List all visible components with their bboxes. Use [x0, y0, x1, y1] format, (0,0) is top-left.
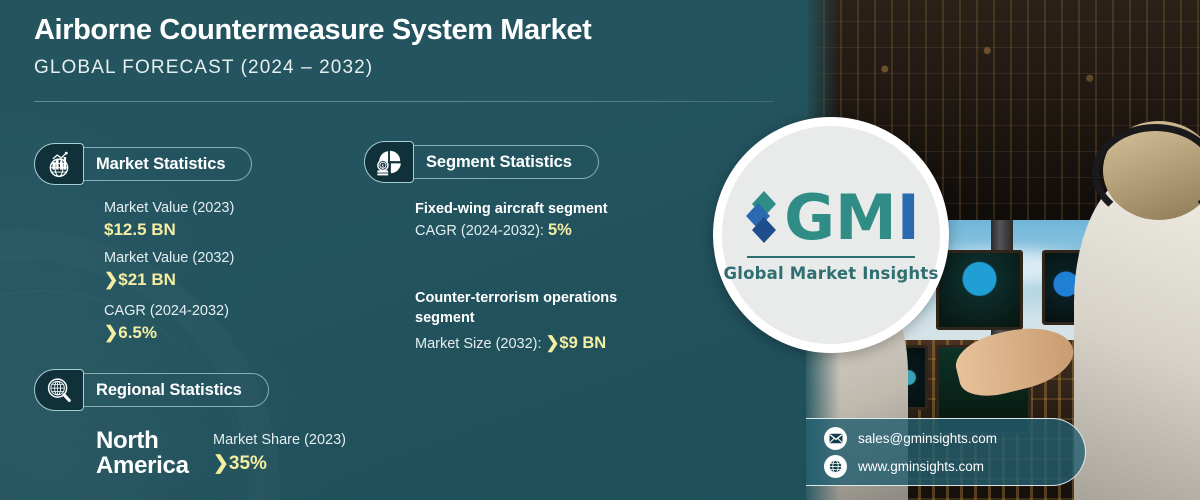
envelope-icon — [824, 427, 847, 450]
market-cagr-value: ❯6.5% — [104, 322, 234, 345]
pilot-right — [1074, 170, 1200, 500]
segment-1-metric-value: 5% — [548, 221, 572, 239]
svg-text:$: $ — [381, 164, 384, 170]
contact-box: sales@gminsights.com www.gminsights.com — [806, 418, 1086, 486]
segment-1-title: Fixed-wing aircraft segment — [415, 199, 608, 219]
market-statistics-values: Market Value (2023) $12.5 BN Market Valu… — [104, 198, 234, 345]
left-content-panel: Airborne Countermeasure System Market GL… — [0, 0, 806, 500]
segment-statistics-header: $ Segment Statistics — [364, 141, 599, 183]
logo-letter-g: G — [784, 187, 833, 249]
globe-magnifier-icon — [34, 369, 84, 411]
logo-letter-i: I — [897, 187, 918, 249]
segment-statistics-label: Segment Statistics — [410, 145, 599, 179]
segment-1-metric-label: CAGR (2024-2032): — [415, 223, 548, 239]
pilot-headset — [1092, 124, 1200, 223]
market-statistics-header: Market Statistics — [34, 143, 252, 185]
page-title: Airborne Countermeasure System Market — [34, 14, 774, 47]
segment-2-metric: Market Size (2032): ❯$9 BN — [415, 333, 665, 353]
market-value-2032-label: Market Value (2032) — [104, 248, 234, 269]
diamond-stack-icon — [744, 189, 778, 247]
navigation-display — [936, 250, 1023, 330]
segment-2-title: Counter-terrorism operations segment — [415, 288, 665, 329]
contact-website-text: www.gminsights.com — [858, 459, 984, 474]
region-line-1: North — [96, 428, 189, 453]
regional-region-name: North America — [96, 428, 189, 478]
market-value-2023-value: $12.5 BN — [104, 219, 234, 242]
market-cagr-label: CAGR (2024-2032) — [104, 301, 234, 322]
regional-statistics-header: Regional Statistics — [34, 369, 269, 411]
contact-website-row[interactable]: www.gminsights.com — [824, 455, 1085, 478]
market-share-label: Market Share (2023) — [213, 430, 346, 451]
regional-statistics-label: Regional Statistics — [80, 373, 269, 407]
globe-icon — [824, 455, 847, 478]
market-share-value: ❯35% — [213, 451, 346, 477]
segment-1-metric: CAGR (2024-2032): 5% — [415, 221, 608, 240]
segment-item-2: Counter-terrorism operations segment Mar… — [415, 288, 665, 353]
region-line-2: America — [96, 453, 189, 478]
regional-share: Market Share (2023) ❯35% — [213, 430, 346, 477]
contact-email-row[interactable]: sales@gminsights.com — [824, 427, 1085, 450]
globe-bar-chart-icon — [34, 143, 84, 185]
market-report-banner: Airborne Countermeasure System Market GL… — [0, 0, 1200, 500]
logo-divider — [747, 256, 915, 258]
gmi-logo: G M I Global Market Insights — [713, 117, 949, 353]
market-statistics-label: Market Statistics — [80, 147, 252, 181]
segment-2-metric-label: Market Size (2032): — [415, 336, 546, 352]
logo-tagline: Global Market Insights — [724, 264, 939, 283]
market-value-2023-label: Market Value (2023) — [104, 198, 234, 219]
market-value-2032-value: ❯$21 BN — [104, 269, 234, 292]
page-subtitle: GLOBAL FORECAST (2024 – 2032) — [34, 57, 774, 79]
segment-item-1: Fixed-wing aircraft segment CAGR (2024-2… — [415, 199, 608, 240]
pie-chart-money-icon: $ — [364, 141, 414, 183]
logo-letter-m: M — [835, 187, 895, 249]
logo-wordmark: G M I — [744, 187, 918, 249]
segment-2-metric-value: ❯$9 BN — [546, 334, 607, 352]
contact-email-text: sales@gminsights.com — [858, 431, 997, 446]
banner-header: Airborne Countermeasure System Market GL… — [34, 14, 774, 79]
header-divider — [34, 101, 774, 102]
